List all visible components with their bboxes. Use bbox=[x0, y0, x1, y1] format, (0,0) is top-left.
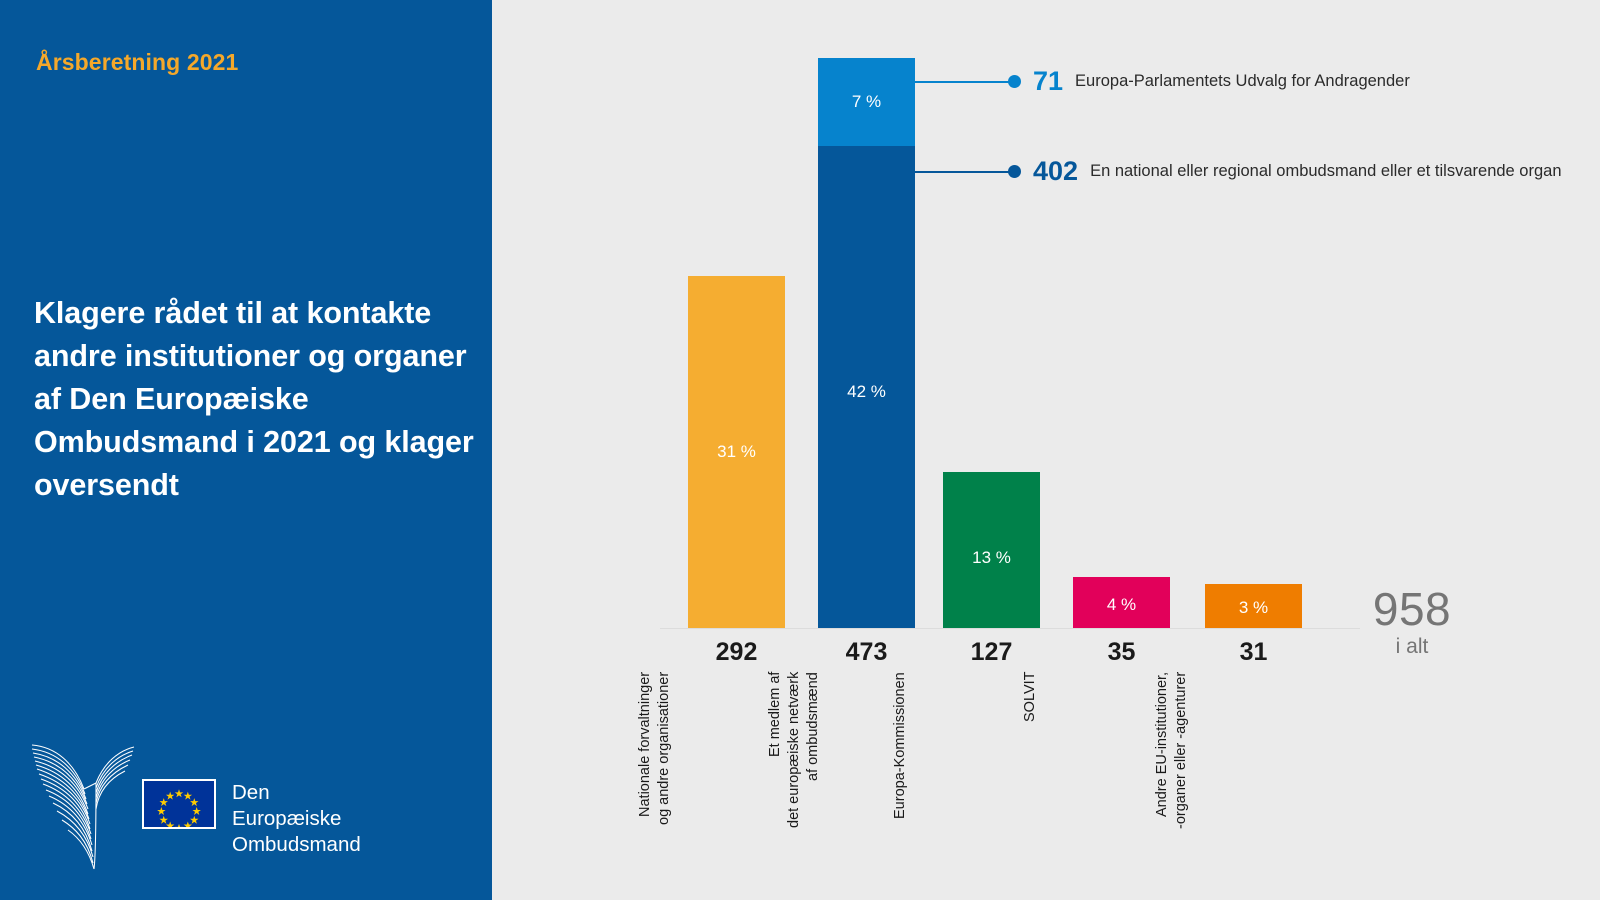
bar-percent-label: 13 % bbox=[943, 548, 1040, 568]
callout-connector-line bbox=[915, 171, 1009, 173]
callout-description: En national eller regional ombudsmand el… bbox=[1090, 162, 1561, 181]
callout-national-ombudsmand: 402 En national eller regional ombudsman… bbox=[915, 156, 1562, 187]
report-year-label: Årsberetning 2021 bbox=[36, 49, 238, 76]
bar-rect-stacked[interactable]: 7 % 42 % bbox=[818, 58, 915, 628]
bar-percent-label: 3 % bbox=[1205, 598, 1302, 618]
bar-value-label: 473 bbox=[818, 638, 915, 667]
page-title: Klagere rådet til at kontakte andre inst… bbox=[34, 292, 474, 507]
chart-baseline bbox=[660, 628, 1360, 629]
bar-rect[interactable]: 3 % bbox=[1205, 584, 1302, 628]
infographic-page: Årsberetning 2021 Klagere rådet til at k… bbox=[0, 0, 1600, 900]
callout-description: Europa-Parlamentets Udvalg for Andragend… bbox=[1075, 72, 1410, 91]
eu-flag-icon bbox=[142, 779, 216, 829]
total-block: 958 i alt bbox=[1332, 584, 1492, 660]
bar-chart: 31 % 292 Nationale forvaltninger og andr… bbox=[492, 0, 1600, 900]
logo-text: Den Europæiske Ombudsmand bbox=[232, 780, 370, 858]
callout-number: 402 bbox=[1033, 156, 1078, 187]
callout-europa-parlamentet: 71 Europa-Parlamentets Udvalg for Andrag… bbox=[915, 66, 1410, 97]
callout-dot bbox=[1008, 165, 1021, 178]
total-label: i alt bbox=[1332, 634, 1492, 660]
callout-number: 71 bbox=[1033, 66, 1063, 97]
total-value: 958 bbox=[1332, 584, 1492, 634]
bar-percent-label: 31 % bbox=[688, 442, 785, 462]
bar-rect[interactable]: 31 % bbox=[688, 276, 785, 628]
bar-value-label: 31 bbox=[1205, 638, 1302, 667]
callout-connector-line bbox=[915, 81, 1009, 83]
bar-rect[interactable]: 13 % bbox=[943, 472, 1040, 628]
bar-value-label: 292 bbox=[688, 638, 785, 667]
bar-value-label: 127 bbox=[943, 638, 1040, 667]
bar-rect[interactable]: 4 % bbox=[1073, 577, 1170, 628]
ombudsman-logo: Den Europæiske Ombudsmand bbox=[30, 733, 370, 873]
ombudsman-wing-mark bbox=[30, 733, 138, 873]
left-panel: Årsberetning 2021 Klagere rådet til at k… bbox=[0, 0, 492, 900]
callout-dot bbox=[1008, 75, 1021, 88]
bar-segment-percent-label: 7 % bbox=[818, 92, 915, 112]
bar-percent-label: 4 % bbox=[1073, 595, 1170, 615]
bar-category-label: Andre EU-institutioner, -organer eller -… bbox=[1153, 672, 1353, 872]
bar-segment-upper[interactable]: 7 % bbox=[818, 58, 915, 146]
bar-value-label: 35 bbox=[1073, 638, 1170, 667]
bar-percent-label: 42 % bbox=[818, 382, 915, 402]
